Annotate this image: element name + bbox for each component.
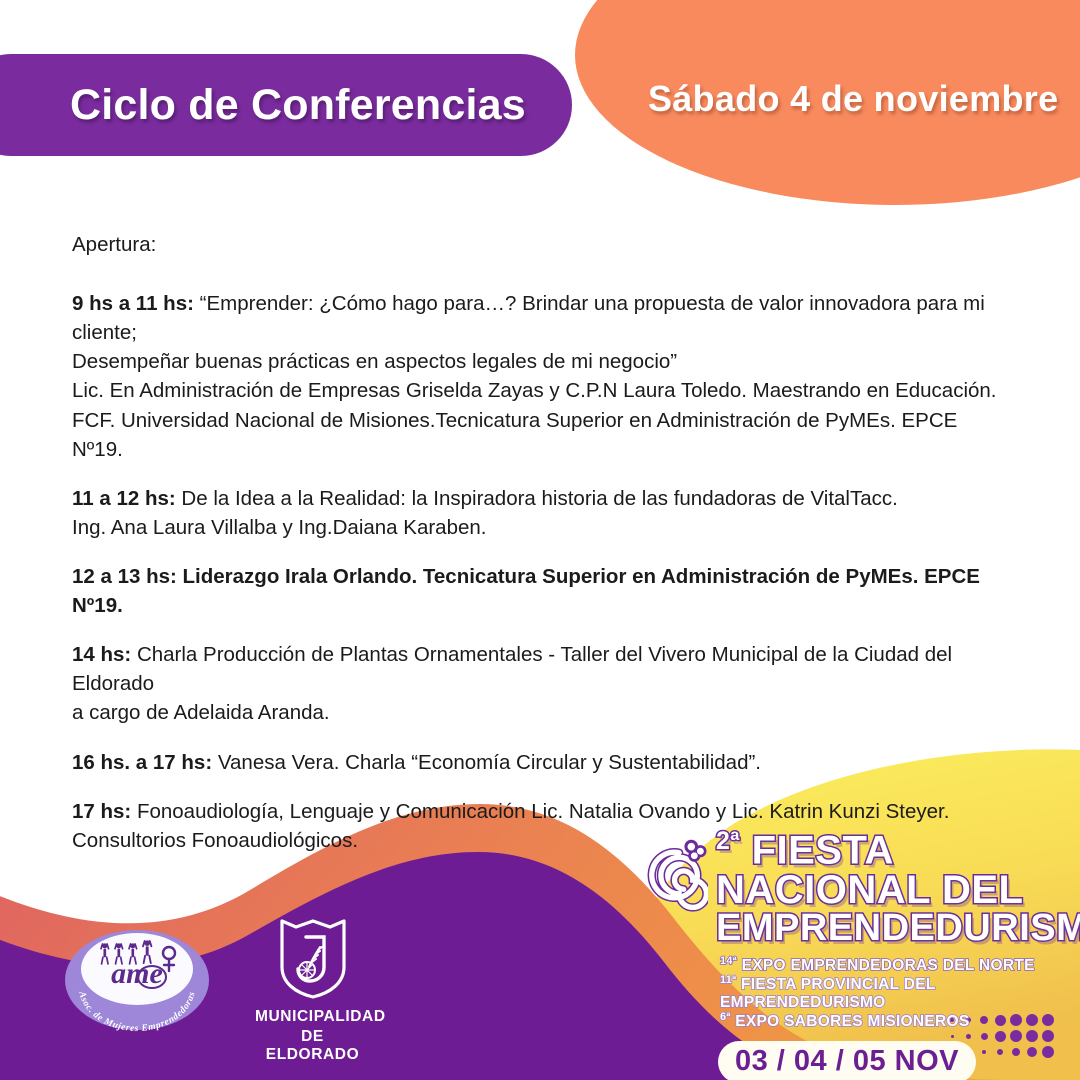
schedule-item-line: 17 hs: Fonoaudiología, Lenguaje y Comuni… (72, 797, 1002, 826)
schedule-item-line: FCF. Universidad Nacional de Misiones.Te… (72, 406, 1002, 464)
schedule-item-line: 16 hs. a 17 hs: Vanesa Vera. Charla “Eco… (72, 748, 1002, 777)
schedule-item-line: 9 hs a 11 hs: “Emprender: ¿Cómo hago par… (72, 289, 1002, 347)
fiesta-sub-2: 11ª FIESTA PROVINCIAL DEL EMPRENDEDURISM… (720, 974, 1062, 1011)
schedule-item: 14 hs: Charla Producción de Plantas Orna… (72, 640, 1002, 727)
schedule-list: 9 hs a 11 hs: “Emprender: ¿Cómo hago par… (72, 289, 1002, 855)
schedule-item-time: 17 hs: (72, 800, 131, 823)
schedule-item: 12 a 13 hs: Liderazgo Irala Orlando. Tec… (72, 562, 1002, 620)
header-title-pill: Ciclo de Conferencias (0, 54, 572, 156)
spiral-logo-icon (632, 836, 708, 912)
fiesta-ordinal-2: 2ª (716, 828, 740, 855)
schedule-content: Apertura: 9 hs a 11 hs: “Emprender: ¿Cóm… (72, 230, 1002, 875)
fiesta-line-2: NACIONAL DEL (716, 871, 1080, 910)
header-date: Sábado 4 de noviembre (648, 78, 1048, 120)
apertura-label: Apertura: (72, 230, 1002, 259)
schedule-item-line: Desempeñar buenas prácticas en aspectos … (72, 347, 1002, 376)
schedule-item-time: 12 a 13 hs: (72, 565, 177, 588)
shield-icon (276, 915, 350, 1001)
fiesta-dates-pill: 03 / 04 / 05 NOV (718, 1041, 976, 1080)
schedule-item-time: 9 hs a 11 hs: (72, 292, 194, 315)
schedule-item-line: 12 a 13 hs: Liderazgo Irala Orlando. Tec… (72, 562, 1002, 620)
schedule-item-line: 14 hs: Charla Producción de Plantas Orna… (72, 640, 1002, 698)
schedule-item: 16 hs. a 17 hs: Vanesa Vera. Charla “Eco… (72, 748, 1002, 777)
municipalidad-logo: MUNICIPALIDAD DE ELDORADO (255, 915, 370, 1064)
schedule-item-line: Ing. Ana Laura Villalba y Ing.Daiana Kar… (72, 513, 1002, 542)
fiesta-branding-lockup: 2ª FIESTA NACIONAL DEL EMPRENDEDURISMO 1… (632, 830, 1062, 1080)
fiesta-sub-1: 14ª EXPO EMPRENDEDORAS DEL NORTE (720, 955, 1062, 975)
schedule-item: 9 hs a 11 hs: “Emprender: ¿Cómo hago par… (72, 289, 1002, 464)
schedule-item-line: 11 a 12 hs: De la Idea a la Realidad: la… (72, 484, 1002, 513)
muni-line-2: DE ELDORADO (255, 1028, 370, 1064)
muni-line-1: MUNICIPALIDAD (255, 1008, 370, 1026)
fiesta-line-1: 2ª FIESTA (716, 830, 1080, 871)
poster-canvas: Ciclo de Conferencias Sábado 4 de noviem… (0, 0, 1080, 1080)
fiesta-line-3: EMPRENDEDURISMO (716, 910, 1080, 947)
schedule-item-line: a cargo de Adelaida Aranda. (72, 698, 1002, 727)
fiesta-sub-3: 6ª EXPO SABORES MISIONEROS (720, 1011, 1062, 1031)
schedule-item-time: 14 hs: (72, 643, 131, 666)
page-title: Ciclo de Conferencias (70, 81, 526, 130)
fiesta-sublines: 14ª EXPO EMPRENDEDORAS DEL NORTE 11ª FIE… (720, 955, 1062, 1031)
schedule-item: 11 a 12 hs: De la Idea a la Realidad: la… (72, 484, 1002, 542)
schedule-item-line: Lic. En Administración de Empresas Grise… (72, 376, 1002, 405)
schedule-item-time: 11 a 12 hs: (72, 487, 176, 510)
schedule-item-time: 16 hs. a 17 hs: (72, 751, 212, 774)
ame-acronym: ame (111, 957, 163, 990)
ame-logo: ame Asoc. de Mujeres Emprendedoras (57, 925, 217, 1035)
